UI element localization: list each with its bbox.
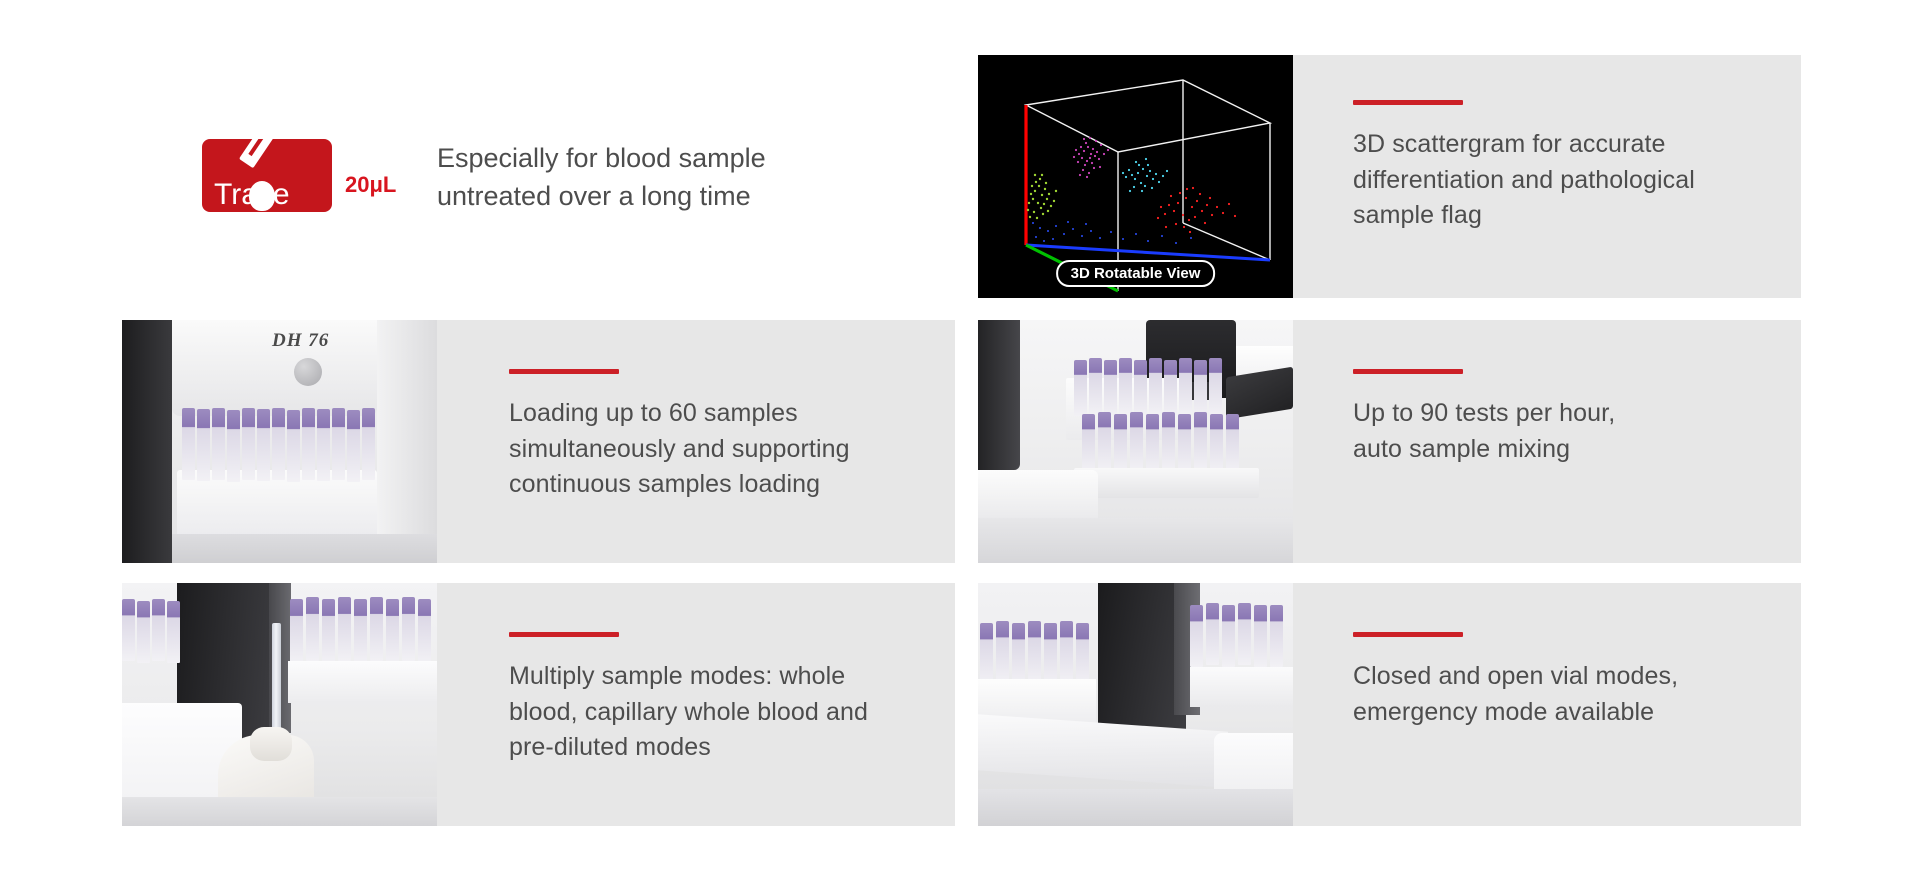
accent-bar <box>1353 632 1463 637</box>
feature-sheet: Trace 20μL Especially for blood sample u… <box>0 0 1920 880</box>
feature-panel-modes: Multiply sample modes: whole blood, capi… <box>437 583 955 826</box>
sample-rack-photo <box>978 320 1293 563</box>
manual-sampling-photo <box>122 583 437 826</box>
trace-headline: Especially for blood sample untreated ov… <box>437 139 797 216</box>
analyzer-model-label: DH 76 <box>272 330 329 352</box>
trace-badge: Trace <box>202 139 332 212</box>
trace-volume-label: 20μL <box>345 172 396 198</box>
trace-badge-label: Trace <box>214 180 290 210</box>
feature-panel-vial-modes: Closed and open vial modes, emergency mo… <box>1293 583 1801 826</box>
analyzer-loader-photo: DH 76 <box>122 320 437 563</box>
scattergram-photo: 3D Rotatable View <box>978 55 1293 298</box>
accent-bar <box>509 632 619 637</box>
accent-bar <box>1353 369 1463 374</box>
feature-panel-throughput: Up to 90 tests per hour, auto sample mix… <box>1293 320 1801 563</box>
feature-text-vial-modes: Closed and open vial modes, emergency mo… <box>1353 659 1801 730</box>
feature-text-scattergram: 3D scattergram for accurate differentiat… <box>1353 127 1801 234</box>
accent-bar <box>509 369 619 374</box>
trace-highlight-block: Trace 20μL Especially for blood sample u… <box>0 0 790 290</box>
rotatable-view-badge: 3D Rotatable View <box>1056 260 1216 287</box>
feature-text-modes: Multiply sample modes: whole blood, capi… <box>509 659 955 766</box>
closed-vial-photo <box>978 583 1293 826</box>
feature-panel-scattergram: 3D scattergram for accurate differentiat… <box>1293 55 1801 298</box>
feature-panel-loading: Loading up to 60 samples simultaneously … <box>437 320 955 563</box>
feature-text-loading: Loading up to 60 samples simultaneously … <box>509 396 955 503</box>
accent-bar <box>1353 100 1463 105</box>
feature-text-throughput: Up to 90 tests per hour, auto sample mix… <box>1353 396 1801 467</box>
